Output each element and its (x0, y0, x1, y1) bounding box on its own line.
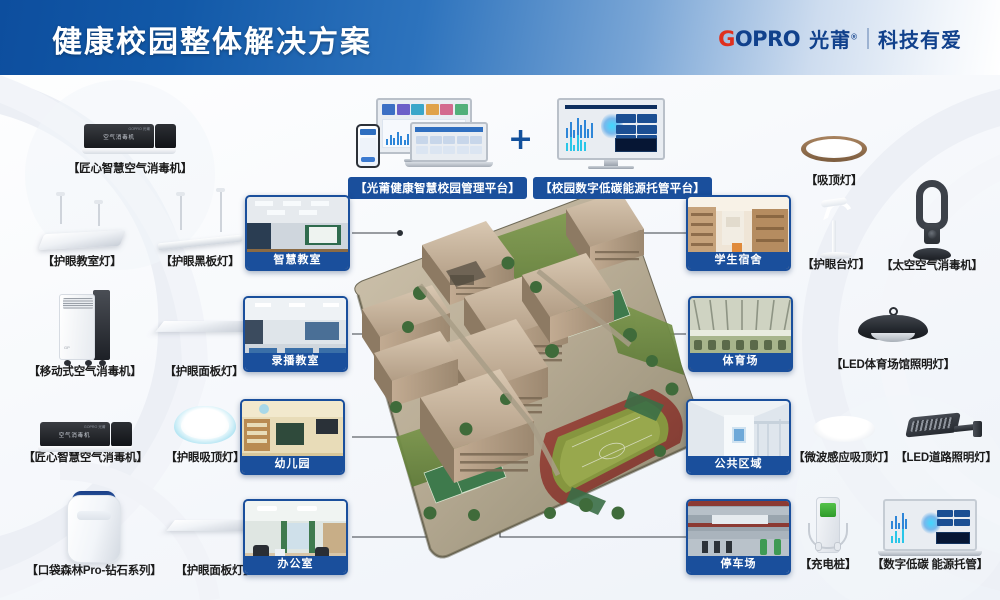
product-art-round-ceiling-lamp (782, 135, 886, 171)
desktop-monitor-dark-icon (557, 98, 665, 164)
plus-icon: + (508, 122, 533, 157)
product-label-eyecare-classroom-light: 【护眼教室灯】 (22, 256, 142, 269)
panel-light-icon (160, 310, 248, 344)
product-ev-charging-pile[interactable]: 【充电桩】 (788, 497, 868, 572)
ev-charging-pile-icon (806, 497, 850, 559)
energy-dashboard-laptop-icon (883, 499, 977, 557)
platform-label-low-carbon: 【校园数字低碳能源托管平台】 (533, 177, 712, 199)
product-label-pocket-forest-pro: 【口袋森林Pro-钻石系列】 (14, 565, 174, 578)
brand-gopro-rest: OPRO (735, 27, 800, 51)
scene-caption-student-dorm: 学生宿舍 (688, 252, 789, 269)
wall-air-disinfector-icon-2: GOPRO 光莆空气消毒机 (40, 422, 132, 452)
product-art-ev-charger (788, 497, 868, 559)
product-label-smart-air-disinfector-1: 【匠心智慧空气消毒机】 (20, 163, 240, 176)
brand-chinese-text: 光莆 (809, 30, 851, 52)
product-led-stadium-light[interactable]: 【LED体育场馆照明灯】 (798, 305, 988, 372)
product-art-desk-lamp (790, 195, 882, 259)
blackboard-light-icon (158, 192, 242, 254)
product-art-highbay-light (798, 305, 988, 351)
product-label-space-air-disinfector: 【太空空气消毒机】 (872, 260, 992, 273)
mobile-air-disinfector-icon: GP (59, 290, 111, 366)
product-art-energy-laptop (862, 497, 998, 559)
product-label-led-street-light: 【LED道路照明灯】 (892, 452, 1000, 465)
pocket-forest-purifier-icon (67, 489, 121, 565)
product-label-ceiling-lamp: 【吸顶灯】 (782, 175, 886, 188)
desk-lamp-icon (816, 197, 856, 259)
scene-card-office[interactable]: 办公室 (243, 499, 348, 575)
brand-tagline: 科技有爱 (878, 24, 962, 53)
product-eyecare-blackboard-light[interactable]: 【护眼黑板灯】 (140, 192, 260, 269)
scene-card-smart-classroom[interactable]: 智慧教室 (245, 195, 350, 271)
page-header: 健康校园整体解决方案 GOPRO 光莆® 科技有爱 (0, 0, 1000, 75)
device-logo-text: GOPRO 光莆 (128, 127, 150, 132)
platform-low-carbon[interactable]: 【校园数字低碳能源托管平台】 (533, 98, 688, 199)
product-pocket-forest-pro[interactable]: 【口袋森林Pro-钻石系列】 (14, 487, 174, 578)
product-microwave-ceiling-lamp[interactable]: 【微波感应吸顶灯】 (790, 410, 898, 465)
scene-caption-stadium: 体育场 (690, 353, 791, 370)
product-led-street-light[interactable]: 【LED道路照明灯】 (892, 405, 1000, 465)
scene-card-stadium[interactable]: 体育场 (688, 296, 793, 372)
scene-caption-public-area: 公共区域 (688, 456, 789, 473)
product-digital-low-carbon[interactable]: 【数字低碳 能源托管】 (862, 497, 998, 572)
led-highbay-light-icon (858, 307, 928, 351)
microwave-sensor-ceiling-lamp-icon (813, 416, 875, 446)
device-face-text: 空气消毒机 (103, 133, 135, 141)
device-logo-text-2: GOPRO 光莆 (84, 425, 106, 430)
product-label-eyecare-blackboard-light: 【护眼黑板灯】 (140, 256, 260, 269)
product-eyecare-desk-lamp[interactable]: 【护眼台灯】 (790, 195, 882, 272)
product-art-microwave-lamp (790, 410, 898, 452)
device-brand-mark: GP (64, 345, 70, 350)
scene-caption-parking-lot: 停车场 (688, 556, 789, 573)
scene-caption-kindergarten: 幼儿园 (242, 456, 343, 473)
scene-caption-smart-classroom: 智慧教室 (247, 252, 348, 269)
smartphone-icon (356, 124, 380, 168)
product-art-pocket-forest (14, 487, 174, 565)
product-art-wall-disinfector-2: GOPRO 光莆空气消毒机 (18, 408, 153, 452)
brand-chinese-name: 光莆® (809, 24, 858, 53)
scene-caption-recording-classroom: 录播教室 (245, 353, 346, 370)
platform-smart-campus[interactable]: 【光莆健康智慧校园管理平台】 (348, 98, 508, 199)
product-label-microwave-ceiling-lamp: 【微波感应吸顶灯】 (790, 452, 898, 465)
brand-lockup: GOPRO 光莆® 科技有爱 (718, 24, 962, 53)
product-ceiling-lamp[interactable]: 【吸顶灯】 (782, 135, 886, 188)
product-art-mobile-disinfector: GP (20, 288, 150, 366)
product-mobile-air-disinfector[interactable]: GP 【移动式空气消毒机】 (20, 288, 150, 379)
product-smart-air-disinfector-1[interactable]: GOPRO 光莆空气消毒机 【匠心智慧空气消毒机】 (20, 118, 240, 176)
campus-3d-render (300, 175, 720, 590)
product-label-ev-charging-pile: 【充电桩】 (788, 559, 868, 572)
product-smart-air-disinfector-2[interactable]: GOPRO 光莆空气消毒机 【匠心智慧空气消毒机】 (18, 408, 153, 465)
product-label-smart-air-disinfector-2: 【匠心智慧空气消毒机】 (18, 452, 153, 465)
brand-divider (867, 28, 869, 49)
dashboard-tiles (382, 104, 468, 115)
scene-card-public-area[interactable]: 公共区域 (686, 399, 791, 475)
registered-mark-icon: ® (851, 32, 858, 41)
round-ceiling-lamp-icon (801, 136, 867, 170)
device-face-text-2: 空气消毒机 (59, 431, 91, 439)
space-air-disinfector-icon (909, 180, 955, 260)
platform-label-smart-campus: 【光莆健康智慧校园管理平台】 (348, 177, 527, 199)
product-label-eyecare-desk-lamp: 【护眼台灯】 (790, 259, 882, 272)
brand-gopro-wordmark: GOPRO (718, 27, 800, 51)
product-eyecare-classroom-light[interactable]: 【护眼教室灯】 (22, 192, 142, 269)
product-art-space-disinfector (872, 188, 992, 260)
scene-card-student-dorm[interactable]: 学生宿舍 (686, 195, 791, 271)
laptop-icon (410, 122, 488, 168)
platform-devices-group (348, 98, 508, 173)
product-art-wall-disinfector: GOPRO 光莆空气消毒机 (20, 118, 240, 154)
product-art-street-light (892, 405, 1000, 452)
led-street-light-icon (908, 409, 984, 449)
product-art-pendant-light (22, 192, 142, 254)
pendant-classroom-light-icon (42, 192, 122, 254)
product-label-led-stadium-light: 【LED体育场馆照明灯】 (798, 359, 988, 372)
platform-monitor-group (533, 98, 688, 173)
scene-card-parking-lot[interactable]: 停车场 (686, 499, 791, 575)
product-art-blackboard-light (140, 192, 260, 254)
scene-card-recording-classroom[interactable]: 录播教室 (243, 296, 348, 372)
brand-gopro-g: G (718, 27, 735, 51)
scene-caption-office: 办公室 (245, 556, 346, 573)
eyecare-ceiling-lamp-icon (174, 406, 236, 448)
page-title: 健康校园整体解决方案 (52, 17, 372, 61)
scene-card-kindergarten[interactable]: 幼儿园 (240, 399, 345, 475)
wall-air-disinfector-icon: GOPRO 光莆空气消毒机 (84, 124, 176, 154)
product-space-air-disinfector[interactable]: 【太空空气消毒机】 (872, 188, 992, 273)
product-label-digital-low-carbon: 【数字低碳 能源托管】 (862, 559, 998, 572)
product-label-mobile-air-disinfector: 【移动式空气消毒机】 (20, 366, 150, 379)
